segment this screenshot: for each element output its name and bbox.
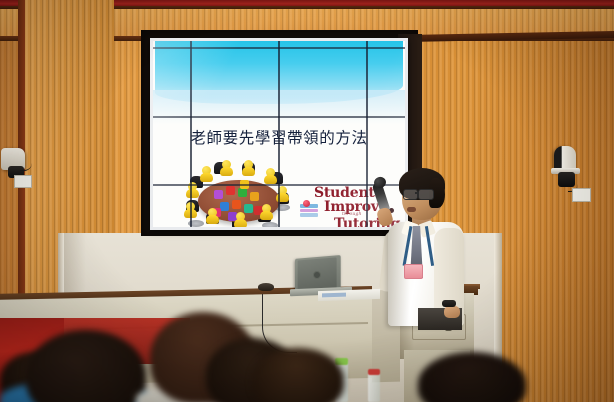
lecture-hall-photo: 老師要先學習帶領的方法 [0, 0, 614, 402]
presenter [372, 168, 476, 328]
wristwatch-icon [442, 300, 456, 307]
glasses-lens-left [403, 189, 418, 200]
video-wall-display[interactable]: 老師要先學習帶領的方法 [150, 38, 408, 230]
glasses-bridge [415, 192, 419, 194]
presenter-mouth [407, 207, 416, 212]
screen-glare [150, 38, 408, 230]
laptop-brand-logo-icon [313, 271, 321, 279]
wall-plate-left [14, 175, 32, 188]
wall-plate-right [572, 188, 591, 202]
name-badge [404, 264, 423, 279]
glasses-lens-right [418, 189, 434, 200]
blue-paper-sheet [322, 293, 346, 298]
presenter-hand-on-podium [444, 306, 460, 318]
presenter-hand-holding-mic [376, 206, 394, 227]
water-bottle [368, 372, 380, 402]
water-bottle-cap [368, 369, 380, 375]
mouse[interactable] [258, 283, 274, 291]
